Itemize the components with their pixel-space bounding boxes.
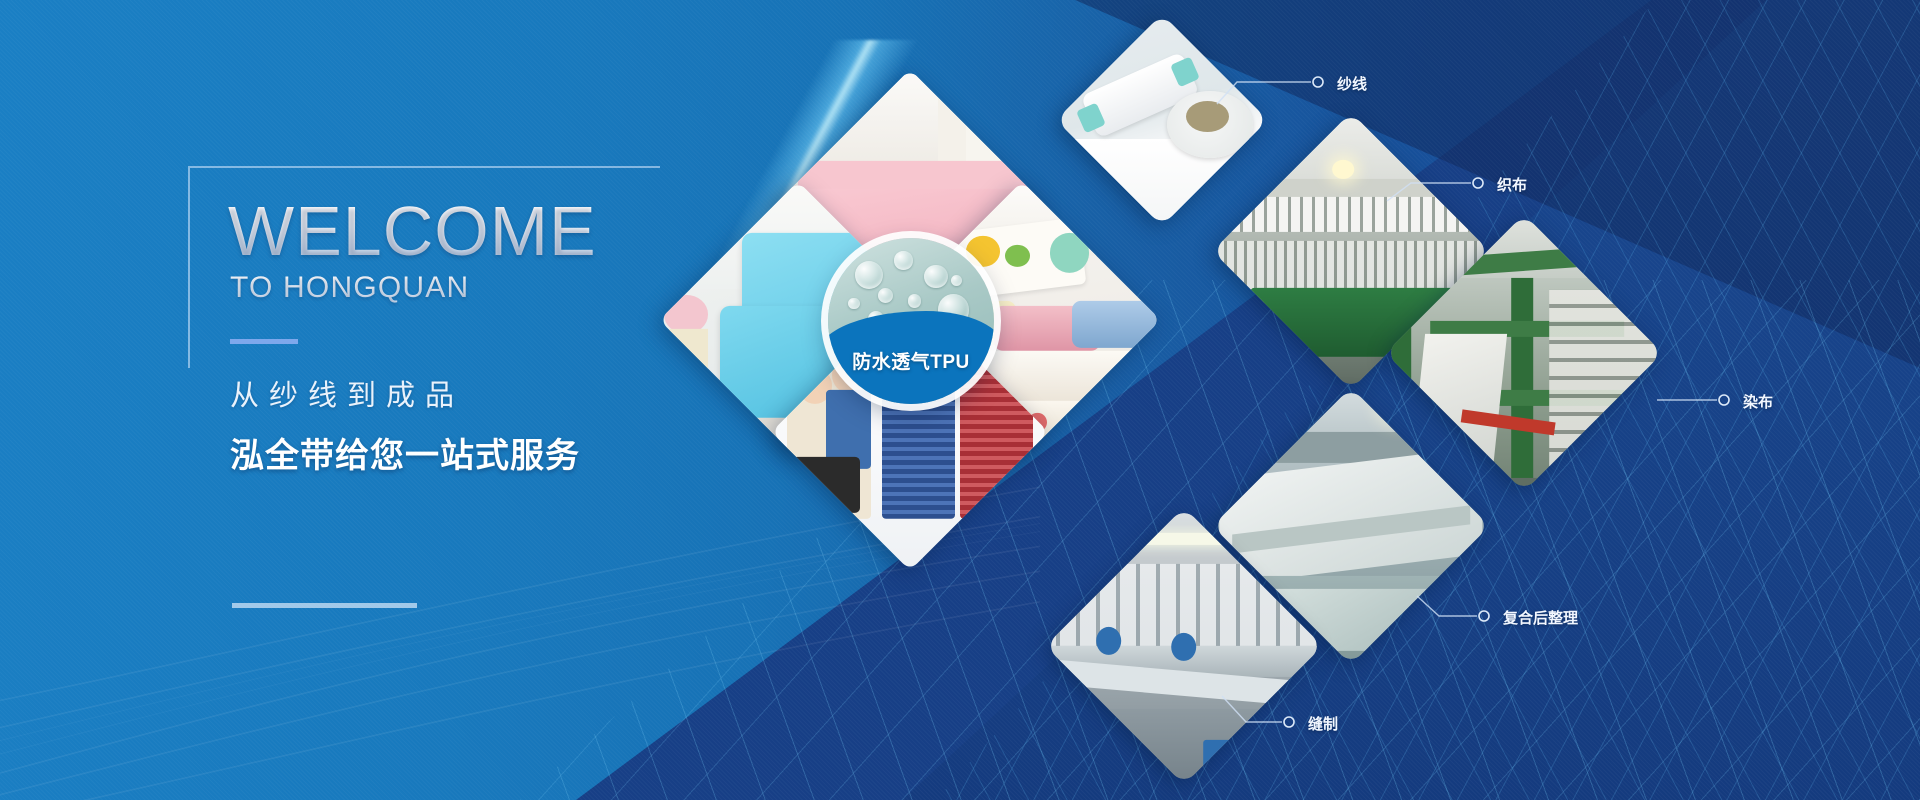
- callout-label-laminating: 复合后整理: [1503, 607, 1578, 628]
- callout-dyeing: 染布: [1655, 388, 1755, 412]
- callout-label-sewing: 缝制: [1308, 713, 1338, 734]
- callout-label-dyeing: 染布: [1743, 391, 1773, 412]
- callout-laminating: 复合后整理: [1415, 592, 1525, 632]
- page-title: WELCOME: [228, 198, 748, 265]
- status-badge[interactable]: 防水透气TPU: [828, 238, 994, 404]
- bottom-divider-rule: [232, 603, 417, 608]
- accent-rule: [230, 339, 298, 344]
- callout-sewing: 缝制: [1220, 692, 1330, 740]
- callout-weaving: 织布: [1385, 163, 1505, 205]
- hero-copy: WELCOME TO HONGQUAN 从纱线到成品 泓全带给您一站式服务: [228, 198, 748, 477]
- product-diamond-cluster: 防水透气TPU: [700, 110, 1120, 530]
- hero-banner: WELCOME TO HONGQUAN 从纱线到成品 泓全带给您一站式服务: [0, 0, 1920, 800]
- callout-label-yarn: 纱线: [1337, 73, 1367, 94]
- headline-chinese: 泓全带给您一站式服务: [230, 428, 748, 477]
- brand-subtitle: TO HONGQUAN: [230, 271, 748, 305]
- callout-yarn: 纱线: [1215, 60, 1345, 108]
- badge-label: 防水透气TPU: [828, 347, 994, 374]
- tagline: 从纱线到成品: [230, 372, 748, 414]
- callout-label-weaving: 织布: [1497, 174, 1527, 195]
